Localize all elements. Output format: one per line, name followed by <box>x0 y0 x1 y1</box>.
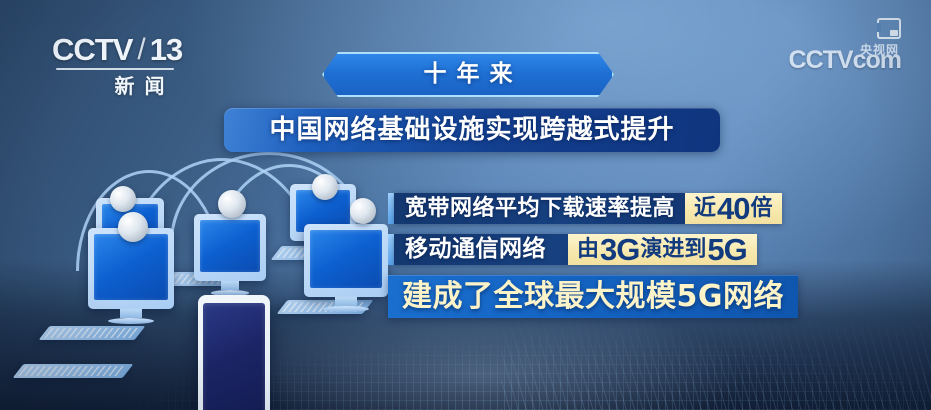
highlight-number: 40 <box>716 193 750 224</box>
cctv-com-wordmark: CCTVcom <box>789 48 901 73</box>
desktop-monitor <box>88 228 174 324</box>
network-node <box>110 186 136 212</box>
bullet-label: 移动通信网络 <box>394 234 568 265</box>
keyboard <box>39 326 146 340</box>
keyboard <box>13 364 134 378</box>
topic-banner-text: 十年来 <box>414 63 523 86</box>
cctv-wordmark: CCTV <box>52 34 132 65</box>
channel-name-cn: 新闻 <box>52 75 237 97</box>
cctv13-logo: CCTV / 13 新闻 <box>52 34 237 97</box>
bullet-body: 移动通信网络 由 3G 演进到 5G <box>394 234 757 265</box>
network-node <box>118 212 148 242</box>
highlight-from-generation: 3G <box>599 234 640 265</box>
bullet-highlight: 近 40 倍 <box>685 193 782 224</box>
cctv13-logo-mark: CCTV / 13 <box>52 34 237 65</box>
channel-number: 13 <box>150 34 182 65</box>
feature-bar: 建成了全球最大规模5G网络 <box>388 275 798 318</box>
headline-text: 中国网络基础设施实现跨越式提升 <box>269 117 674 143</box>
topic-banner: 十年来 <box>322 52 614 97</box>
broadcast-graphic-screen: CCTV / 13 新闻 央视网 CCTVcom 十年来 中国网络基础设施实现跨… <box>0 0 931 410</box>
bullet-item: 宽带网络平均下载速率提高 近 40 倍 <box>388 193 798 224</box>
tablet-device <box>198 295 270 410</box>
picture-in-picture-icon[interactable] <box>877 18 901 39</box>
bullet-list: 宽带网络平均下载速率提高 近 40 倍 移动通信网络 由 3G 演进到 5G <box>388 193 798 318</box>
highlight-suffix: 倍 <box>751 198 773 220</box>
logo-divider: / <box>134 35 147 65</box>
cctv-com-watermark: 央视网 CCTVcom <box>789 44 901 73</box>
bullet-body: 宽带网络平均下载速率提高 近 40 倍 <box>394 193 782 224</box>
cctv-com-domain: com <box>853 46 901 74</box>
bullet-item: 移动通信网络 由 3G 演进到 5G <box>388 234 798 265</box>
network-node <box>312 174 338 200</box>
network-node <box>218 190 246 218</box>
highlight-prefix: 近 <box>694 198 716 220</box>
highlight-prefix: 由 <box>577 239 599 261</box>
headline-bar: 中国网络基础设施实现跨越式提升 <box>224 108 720 152</box>
desktop-monitor <box>194 214 266 296</box>
logo-underline <box>56 68 174 70</box>
bullet-highlight: 由 3G 演进到 5G <box>568 234 757 265</box>
bullet-label: 宽带网络平均下载速率提高 <box>394 193 685 224</box>
network-of-computers-illustration <box>18 150 398 410</box>
network-node <box>350 198 376 224</box>
highlight-to-generation: 5G <box>706 234 747 265</box>
tablet-screen <box>203 303 265 410</box>
cctv-com-brand: CCTV <box>789 46 853 74</box>
feature-text: 建成了全球最大规模5G网络 <box>402 279 784 314</box>
desktop-monitor <box>304 224 388 312</box>
highlight-middle: 演进到 <box>640 239 706 261</box>
